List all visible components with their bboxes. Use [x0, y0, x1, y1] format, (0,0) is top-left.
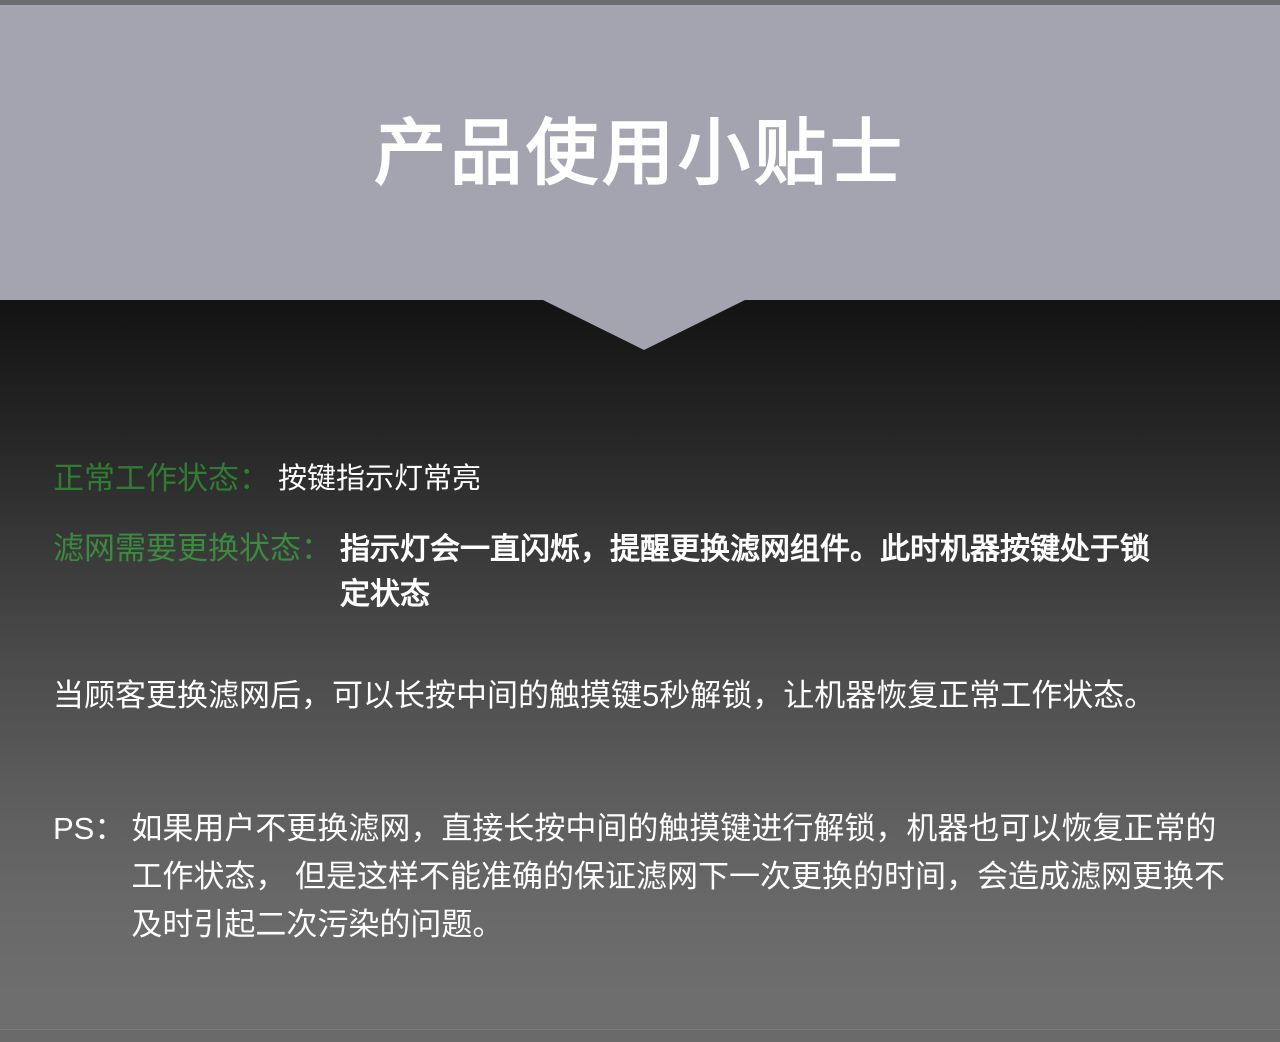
status-label-filter-replace: 滤网需要更换状态： — [53, 527, 332, 571]
ps-note-text: 如果用户不更换滤网，直接长按中间的触摸键进行解锁，机器也可以恢复正常的工作状态，… — [131, 805, 1243, 949]
header-top-strip — [0, 0, 1280, 5]
status-value-filter-replace: 指示灯会一直闪烁，提醒更换滤网组件。此时机器按键处于锁定状态 — [340, 527, 1170, 617]
status-value-normal: 按键指示灯常亮 — [278, 457, 481, 501]
ps-label: PS： — [53, 805, 125, 853]
status-label-normal: 正常工作状态： — [53, 457, 270, 501]
status-row-filter-replace: 滤网需要更换状态： 指示灯会一直闪烁，提醒更换滤网组件。此时机器按键处于锁定状态 — [53, 527, 1170, 617]
status-row-normal: 正常工作状态： 按键指示灯常亮 — [53, 457, 481, 501]
content-area: 正常工作状态： 按键指示灯常亮 滤网需要更换状态： 指示灯会一直闪烁，提醒更换滤… — [0, 300, 1280, 1042]
paragraph-unlock-instruction: 当顾客更换滤网后，可以长按中间的触摸键5秒解锁，让机器恢复正常工作状态。 — [53, 672, 1238, 720]
bottom-edge-band — [0, 1029, 1280, 1042]
header-banner: 产品使用小贴士 — [0, 0, 1280, 300]
ps-note-block: PS： 如果用户不更换滤网，直接长按中间的触摸键进行解锁，机器也可以恢复正常的工… — [53, 805, 1243, 949]
product-tips-page: 产品使用小贴士 正常工作状态： 按键指示灯常亮 滤网需要更换状态： 指示灯会一直… — [0, 0, 1280, 1042]
page-title: 产品使用小贴士 — [0, 118, 1280, 190]
